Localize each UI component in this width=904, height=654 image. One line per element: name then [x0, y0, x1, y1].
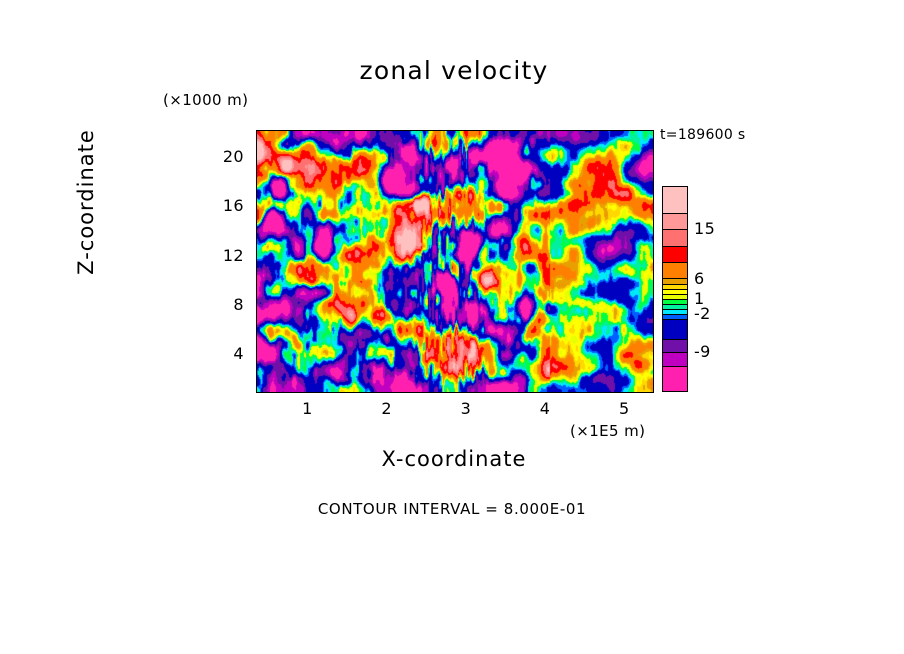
y-tick-label: 12	[204, 246, 244, 265]
colorbar-tick-label: 6	[694, 269, 705, 288]
colorbar-tick-label: -9	[694, 342, 711, 361]
colorbar-tick-label: -2	[694, 304, 711, 323]
x-axis-title: X-coordinate	[256, 447, 652, 471]
colorbar-band	[663, 230, 687, 246]
page-title: zonal velocity	[256, 56, 652, 85]
y-tick-label: 20	[204, 147, 244, 166]
plot-area	[256, 130, 654, 393]
colorbar-band	[663, 340, 687, 353]
y-axis-title: Z-coordinate	[74, 82, 98, 322]
x-tick-label: 3	[446, 399, 486, 418]
contour-figure: zonal velocity (×1000 m) t=189600 s Z-co…	[0, 0, 904, 654]
contour-interval-caption: CONTOUR INTERVAL = 8.000E-01	[152, 500, 752, 518]
colorbar-band	[663, 247, 687, 263]
y-tick-label: 16	[204, 196, 244, 215]
contour-field	[257, 131, 653, 392]
colorbar-band	[663, 367, 687, 391]
colorbar-band	[663, 353, 687, 366]
colorbar-tick-label: 15	[694, 219, 715, 238]
x-tick-label: 4	[525, 399, 565, 418]
colorbar	[662, 186, 688, 392]
colorbar-band	[663, 320, 687, 339]
x-tick-label: 1	[287, 399, 327, 418]
y-axis-unit-label: (×1000 m)	[163, 91, 248, 109]
x-tick-label: 2	[367, 399, 407, 418]
x-axis-unit-label: (×1E5 m)	[570, 422, 645, 440]
y-tick-label: 4	[204, 344, 244, 363]
x-tick-label: 5	[604, 399, 644, 418]
y-tick-label: 8	[204, 295, 244, 314]
colorbar-band	[663, 187, 687, 214]
timestamp-annotation: t=189600 s	[660, 127, 745, 143]
colorbar-band	[663, 214, 687, 230]
colorbar-band	[663, 263, 687, 279]
